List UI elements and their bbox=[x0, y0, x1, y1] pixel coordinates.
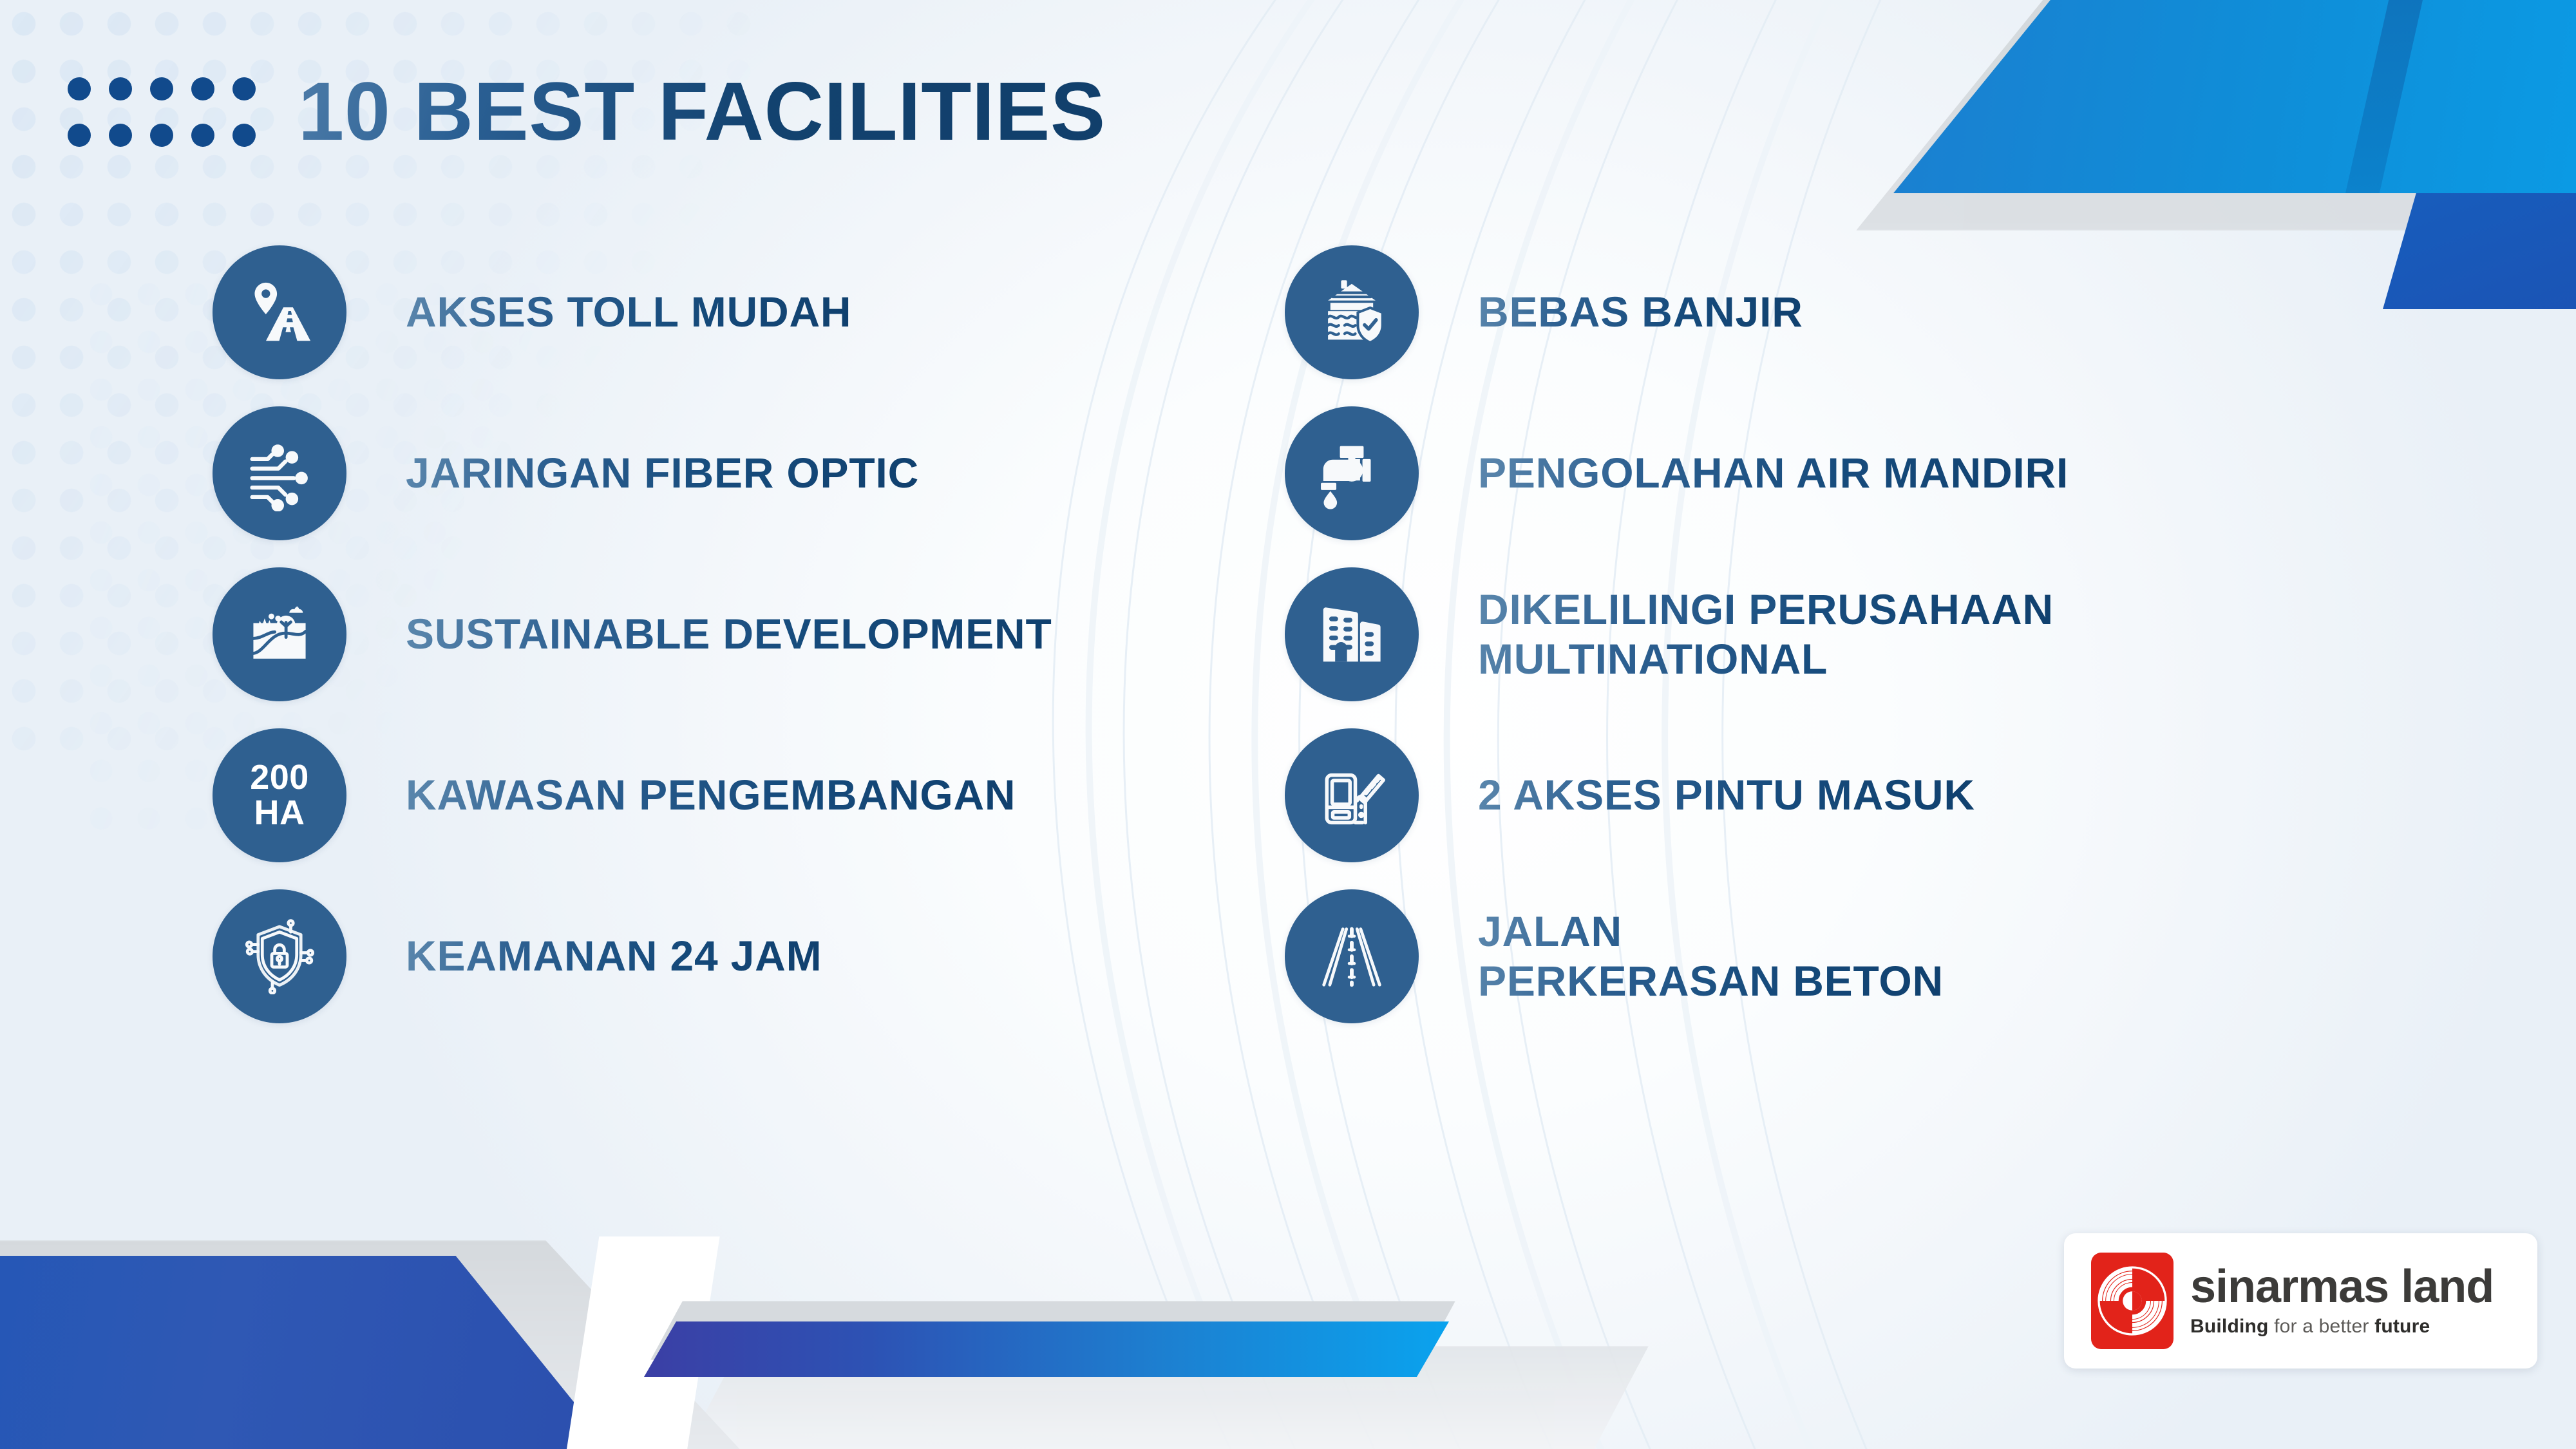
feature-item-jaringan-fiber-optic: JARINGAN FIBER OPTIC bbox=[213, 393, 1275, 554]
feature-label: SUSTAINABLE DEVELOPMENT bbox=[406, 609, 1052, 659]
feature-label-line: 2 AKSES PINTU MASUK bbox=[1478, 770, 1975, 820]
page-title: 10 BEST FACILITIES bbox=[298, 71, 1106, 153]
water-tap-icon bbox=[1285, 406, 1419, 540]
decoration-dot bbox=[68, 77, 91, 100]
area-size-unit: HA bbox=[250, 795, 309, 831]
landscape-nature-icon bbox=[213, 567, 346, 701]
feature-label: DIKELILINGI PERUSAHAAN MULTINATIONAL bbox=[1478, 585, 2054, 684]
feature-label: BEBAS BANJIR bbox=[1478, 287, 1803, 337]
gate-barrier-icon bbox=[1285, 728, 1419, 862]
feature-label: JALAN PERKERASAN BETON bbox=[1478, 907, 1944, 1006]
page-header: 10 BEST FACILITIES bbox=[68, 71, 1106, 153]
logo-tagline-bold-building: Building bbox=[2190, 1316, 2269, 1337]
area-size-value: 200 bbox=[250, 760, 309, 795]
decoration-dot bbox=[191, 77, 214, 100]
feature-label: AKSES TOLL MUDAH bbox=[406, 287, 851, 337]
features-right-column: BEBAS BANJIR bbox=[1285, 232, 2380, 1037]
feature-item-kawasan-pengembangan: 200 HA KAWASAN PENGEMBANGAN bbox=[213, 715, 1275, 876]
decoration-dot bbox=[109, 124, 132, 147]
feature-item-pengolahan-air-mandiri: PENGOLAHAN AIR MANDIRI bbox=[1285, 393, 2380, 554]
feature-label-line: KAWASAN PENGEMBANGAN bbox=[406, 770, 1016, 820]
feature-item-bebas-banjir: BEBAS BANJIR bbox=[1285, 232, 2380, 393]
decoration-dot bbox=[150, 124, 173, 147]
logo-company-name: sinarmas land bbox=[2190, 1264, 2494, 1310]
sinarmas-spiral-logo-icon bbox=[2091, 1253, 2173, 1349]
area-size-text: 200 HA bbox=[250, 760, 309, 831]
feature-label-line: SUSTAINABLE DEVELOPMENT bbox=[406, 609, 1052, 659]
fiber-optic-network-icon bbox=[213, 406, 346, 540]
feature-item-jalan-perkerasan-beton: JALAN PERKERASAN BETON bbox=[1285, 876, 2380, 1037]
features-left-column: AKSES TOLL MUDAH bbox=[213, 232, 1275, 1037]
map-pin-road-icon bbox=[213, 245, 346, 379]
feature-label-line: KEAMANAN 24 JAM bbox=[406, 931, 822, 981]
logo-tagline-middle: for a better bbox=[2269, 1316, 2375, 1337]
area-size-badge: 200 HA bbox=[213, 728, 346, 862]
feature-item-dikelilingi-perusahaan-multinational: DIKELILINGI PERUSAHAAN MULTINATIONAL bbox=[1285, 554, 2380, 715]
highway-road-icon bbox=[1285, 889, 1419, 1023]
feature-label-line: DIKELILINGI PERUSAHAAN bbox=[1478, 585, 2054, 634]
feature-label-line: AKSES TOLL MUDAH bbox=[406, 287, 851, 337]
feature-label-line: JALAN bbox=[1478, 907, 1944, 956]
decoration-dot bbox=[191, 124, 214, 147]
logo-tagline: Building for a better future bbox=[2190, 1316, 2494, 1338]
decoration-dot bbox=[150, 77, 173, 100]
bottom-gradient-stripe bbox=[644, 1321, 1449, 1377]
decoration-dot bbox=[232, 77, 256, 100]
feature-item-keamanan-24-jam: KEAMANAN 24 JAM bbox=[213, 876, 1275, 1037]
feature-label: KAWASAN PENGEMBANGAN bbox=[406, 770, 1016, 820]
feature-label: PENGOLAHAN AIR MANDIRI bbox=[1478, 448, 2069, 498]
office-buildings-icon bbox=[1285, 567, 1419, 701]
feature-label-line: BEBAS BANJIR bbox=[1478, 287, 1803, 337]
dot-grid-decoration bbox=[68, 77, 256, 147]
feature-label: JARINGAN FIBER OPTIC bbox=[406, 448, 919, 498]
logo-tagline-bold-future: future bbox=[2374, 1316, 2430, 1337]
logo-text-block: sinarmas land Building for a better futu… bbox=[2190, 1264, 2494, 1338]
feature-label: 2 AKSES PINTU MASUK bbox=[1478, 770, 1975, 820]
feature-label: KEAMANAN 24 JAM bbox=[406, 931, 822, 981]
feature-item-akses-toll-mudah: AKSES TOLL MUDAH bbox=[213, 232, 1275, 393]
feature-item-sustainable-development: SUSTAINABLE DEVELOPMENT bbox=[213, 554, 1275, 715]
feature-label-line: PERKERASAN BETON bbox=[1478, 956, 1944, 1006]
feature-label-line: JARINGAN FIBER OPTIC bbox=[406, 448, 919, 498]
feature-label-line: PENGOLAHAN AIR MANDIRI bbox=[1478, 448, 2069, 498]
feature-label-line: MULTINATIONAL bbox=[1478, 634, 2054, 684]
decoration-dot bbox=[68, 124, 91, 147]
slide-canvas: 10 BEST FACILITIES AKSES TOLL MUDAH bbox=[0, 0, 2576, 1449]
decoration-dot bbox=[109, 77, 132, 100]
decoration-dot bbox=[232, 124, 256, 147]
feature-item-2-akses-pintu-masuk: 2 AKSES PINTU MASUK bbox=[1285, 715, 2380, 876]
shield-lock-icon bbox=[213, 889, 346, 1023]
sinarmas-land-logo: sinarmas land Building for a better futu… bbox=[2064, 1233, 2537, 1368]
features-container: AKSES TOLL MUDAH bbox=[0, 232, 2576, 1037]
flood-free-house-icon bbox=[1285, 245, 1419, 379]
